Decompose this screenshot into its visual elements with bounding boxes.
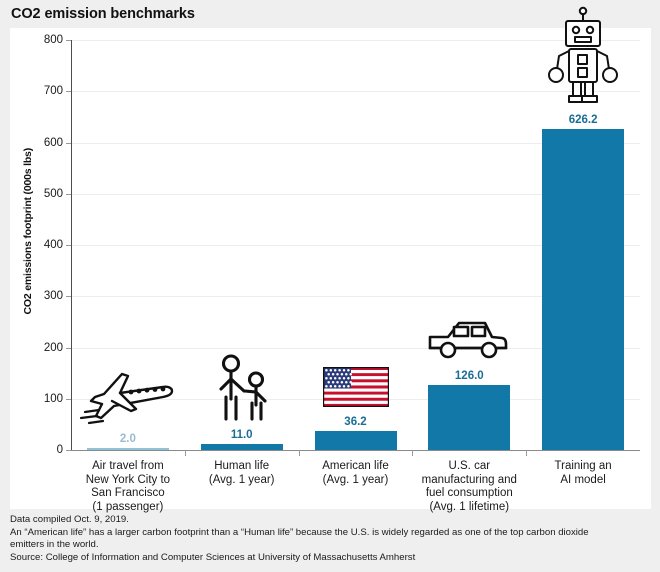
y-axis-tick-mark bbox=[66, 143, 71, 144]
x-axis-category-label: American life (Avg. 1 year) bbox=[299, 460, 413, 487]
y-axis-tick-mark bbox=[66, 40, 71, 41]
bar[interactable]: 126.0 bbox=[428, 385, 510, 450]
x-axis-line bbox=[71, 450, 640, 451]
bar-value-label: 2.0 bbox=[120, 433, 136, 445]
x-axis-tick-mark bbox=[412, 450, 413, 456]
x-axis-category-label: Human life (Avg. 1 year) bbox=[185, 460, 299, 487]
x-axis-category-label: Air travel from New York City to San Fra… bbox=[71, 460, 185, 514]
bar[interactable]: 2.0 bbox=[87, 448, 169, 450]
bar-value-label: 36.2 bbox=[344, 416, 366, 428]
plot-area: 0100200300400500600700800 2.011.036.2126… bbox=[71, 40, 640, 450]
bar-value-label: 11.0 bbox=[231, 429, 253, 441]
y-axis-tick-label: 800 bbox=[44, 34, 63, 46]
x-axis-category-label: U.S. car manufacturing and fuel consumpt… bbox=[412, 460, 526, 514]
y-axis-tick-mark bbox=[66, 348, 71, 349]
bar[interactable]: 11.0 bbox=[201, 444, 283, 450]
y-axis-tick-label: 400 bbox=[44, 239, 63, 251]
bar-group: 126.0 bbox=[428, 40, 510, 450]
bar-value-label: 626.2 bbox=[569, 114, 598, 126]
page-title: CO2 emission benchmarks bbox=[11, 6, 195, 22]
y-axis-tick-label: 0 bbox=[57, 444, 63, 456]
y-axis-tick-label: 500 bbox=[44, 188, 63, 200]
footnotes: Data compiled Oct. 9, 2019. An “American… bbox=[10, 514, 651, 564]
y-axis-tick-mark bbox=[66, 245, 71, 246]
bar-group: 2.0 bbox=[87, 40, 169, 450]
us-flag-icon bbox=[323, 367, 389, 407]
footnote-line-2: An “American life” has a larger carbon f… bbox=[10, 527, 651, 540]
y-axis-tick-label: 300 bbox=[44, 290, 63, 302]
y-axis-tick-label: 200 bbox=[44, 342, 63, 354]
x-axis-tick-mark bbox=[526, 450, 527, 456]
airplane-icon bbox=[79, 360, 177, 428]
bar-group: 626.2 bbox=[542, 40, 624, 450]
y-axis-title: CO2 emissions footprint (000s lbs) bbox=[22, 148, 38, 315]
y-axis-tick-label: 600 bbox=[44, 137, 63, 149]
bar[interactable]: 36.2 bbox=[315, 431, 397, 450]
x-axis-tick-mark bbox=[185, 450, 186, 456]
x-axis-tick-mark bbox=[299, 450, 300, 456]
y-axis-tick-mark bbox=[66, 399, 71, 400]
bar[interactable]: 626.2 bbox=[542, 129, 624, 450]
y-axis-tick-mark bbox=[66, 194, 71, 195]
y-axis-tick-mark bbox=[66, 450, 71, 451]
bar-group: 36.2 bbox=[315, 40, 397, 450]
car-icon bbox=[426, 317, 512, 361]
footnote-line-1: Data compiled Oct. 9, 2019. bbox=[10, 514, 651, 527]
x-axis-category-label: Training an AI model bbox=[526, 460, 640, 487]
y-axis-tick-mark bbox=[66, 296, 71, 297]
chart-container: CO2 emission benchmarks CO2 emissions fo… bbox=[0, 0, 660, 572]
family-figures-icon bbox=[212, 353, 272, 423]
chart-header: CO2 emission benchmarks bbox=[0, 0, 660, 28]
bar-value-label: 126.0 bbox=[455, 370, 484, 382]
y-axis-tick-label: 700 bbox=[44, 85, 63, 97]
chart-panel: CO2 emissions footprint (000s lbs) 01002… bbox=[10, 28, 651, 509]
y-axis-tick-label: 100 bbox=[44, 393, 63, 405]
y-axis-tick-mark bbox=[66, 91, 71, 92]
bar-group: 11.0 bbox=[201, 40, 283, 450]
footnote-line-3: emitters in the world. bbox=[10, 539, 651, 552]
footnote-line-4: Source: College of Information and Compu… bbox=[10, 552, 651, 565]
